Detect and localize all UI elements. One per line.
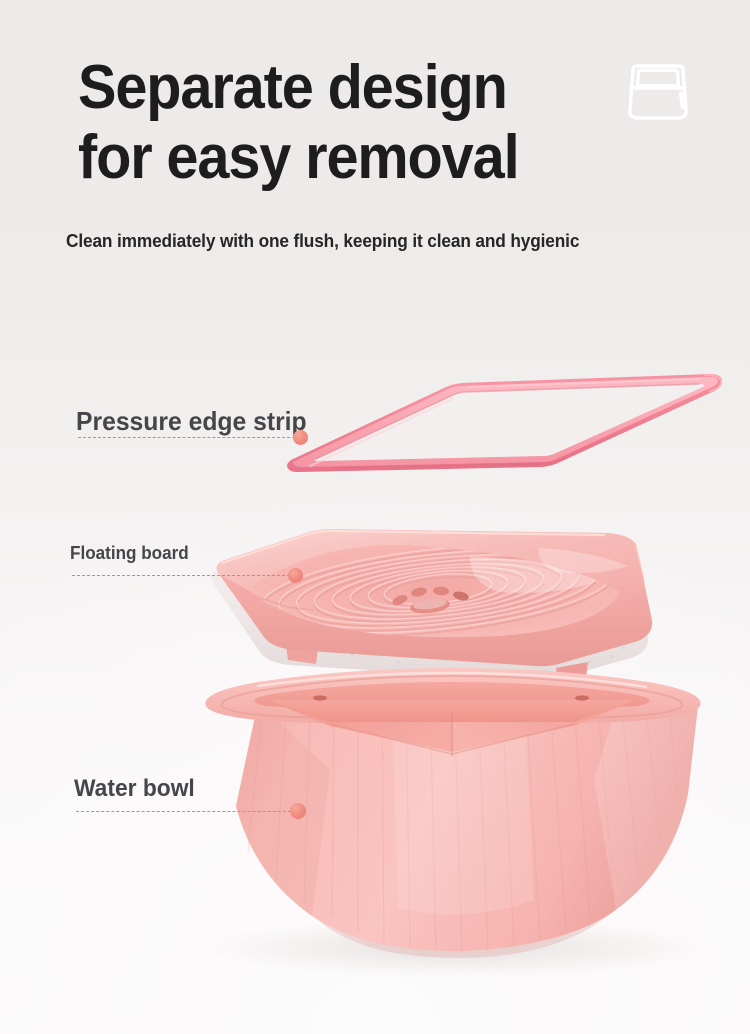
product-infographic: Separate design for easy removal Clean i… [0,0,750,1034]
floating-board-part [211,529,653,682]
callout-dot-water-bowl [290,803,306,819]
callout-label-pressure-edge-strip: Pressure edge strip [76,406,307,437]
rim-notch-right [575,695,589,700]
callout-dot-floating-board [288,568,303,583]
pressure-edge-strip-part [287,374,722,472]
rim-notch-left [313,695,327,700]
water-bowl-part [205,668,700,958]
callout-leader-line-pressure-edge-strip [78,437,300,438]
callout-leader-line-water-bowl [76,811,291,812]
callout-leader-line-floating-board [72,575,290,576]
callout-label-floating-board: Floating board [70,543,189,564]
callout-label-water-bowl: Water bowl [74,775,195,803]
product-illustration [0,0,750,1034]
callout-dot-pressure-edge-strip [293,430,308,445]
